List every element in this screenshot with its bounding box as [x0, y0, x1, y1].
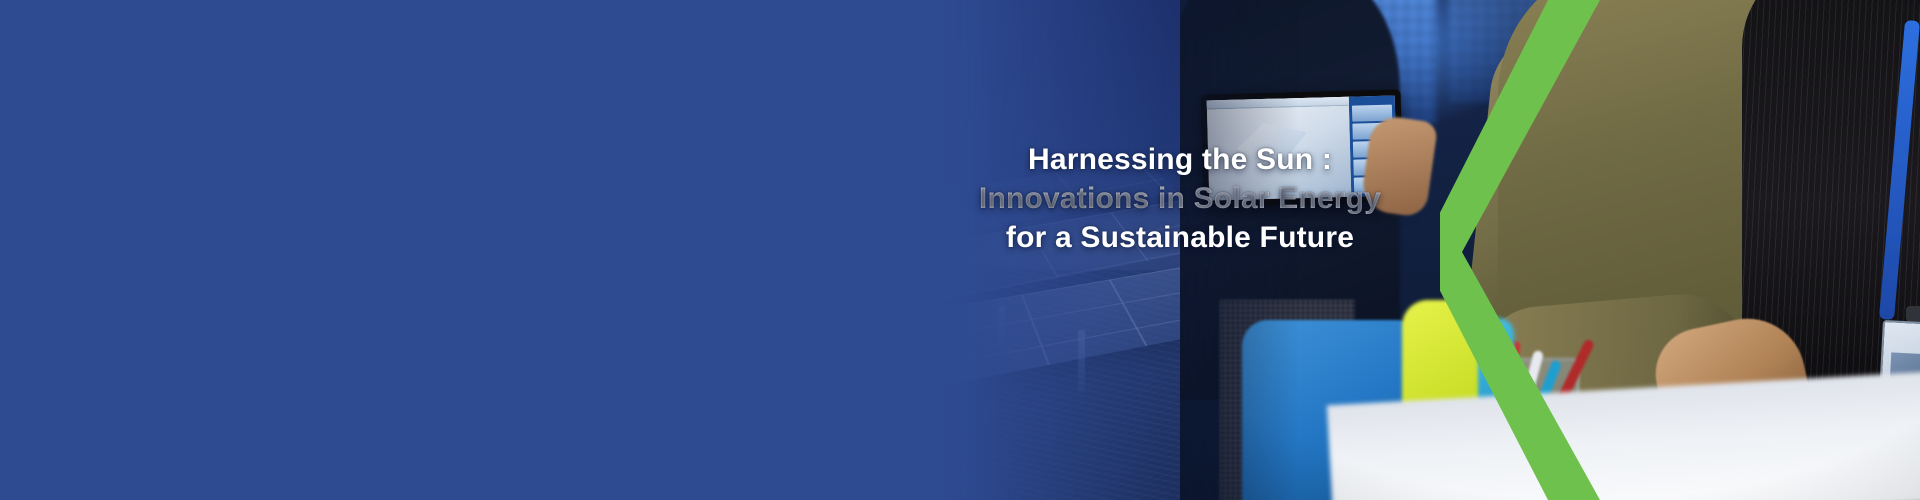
flat-blue-panel [0, 0, 900, 500]
solar-energy-hero-banner: Harnessing the Sun : Innovations in Sola… [0, 0, 1920, 500]
headline-line-3: for a Sustainable Future [880, 218, 1480, 257]
headline-line-2: Innovations in Solar Energy [880, 179, 1480, 218]
headline-line-1: Harnessing the Sun : [880, 140, 1480, 179]
badge-clip [1906, 306, 1920, 322]
page-title: Harnessing the Sun : Innovations in Sola… [880, 140, 1480, 257]
